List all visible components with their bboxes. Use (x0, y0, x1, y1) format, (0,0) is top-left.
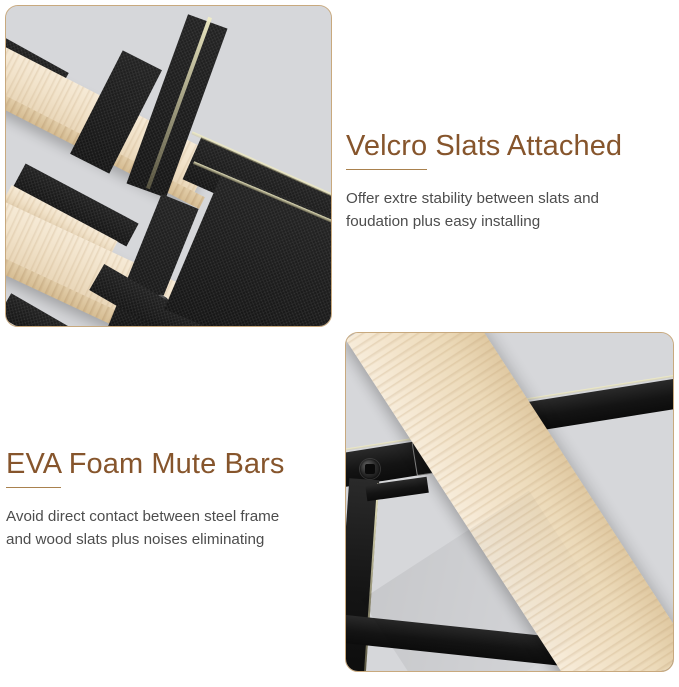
foam-body: Avoid direct contact between steel frame… (6, 480, 336, 550)
velcro-heading: Velcro Slats Attached (346, 130, 666, 162)
infographic-canvas: Velcro Slats Attached Offer extre stabil… (0, 0, 679, 687)
velcro-body-line-2: foudation plus easy installing (346, 211, 666, 233)
eva-foam-bars-photo (345, 332, 674, 672)
velcro-body: Offer extre stability between slats andf… (346, 162, 666, 232)
foam-body-line-1: Avoid direct contact between steel frame (6, 506, 336, 528)
velcro-body-line-1: Offer extre stability between slats and (346, 188, 666, 210)
foam-heading-underlined: EVA (6, 448, 61, 488)
frame-hex-bolt (360, 459, 380, 479)
velcro-slats-photo (5, 5, 332, 327)
foam-heading-rest: Foam Mute Bars (61, 448, 285, 480)
foam-scene (346, 333, 673, 671)
velcro-text-block: Velcro Slats Attached Offer extre stabil… (346, 130, 666, 233)
foam-body-line-2: and wood slats plus noises eliminating (6, 529, 336, 551)
velcro-heading-underlined: Velcro (346, 130, 427, 170)
velcro-scene (6, 6, 331, 326)
velcro-heading-rest: Slats Attached (427, 130, 622, 162)
foam-text-block: EVA Foam Mute Bars Avoid direct contact … (6, 448, 336, 551)
foam-heading: EVA Foam Mute Bars (6, 448, 336, 480)
